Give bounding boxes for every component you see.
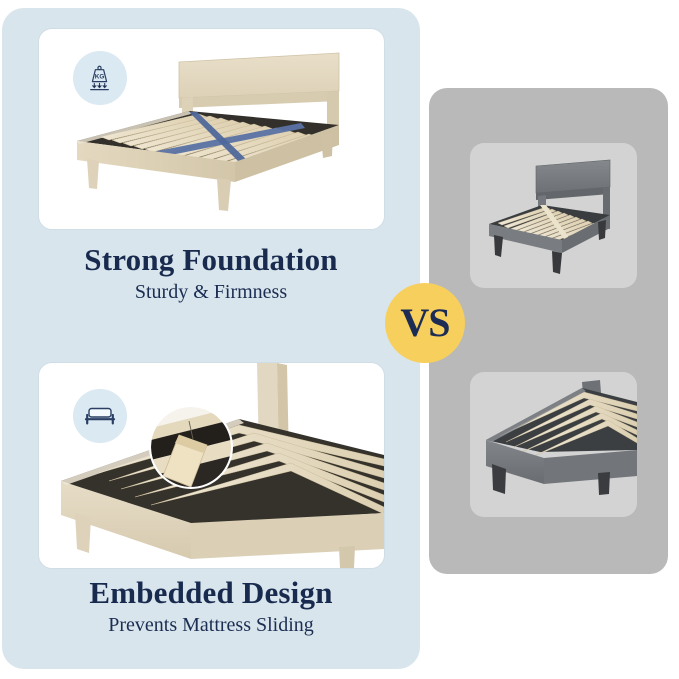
competitor-image-full-bed [470,143,637,288]
caption-embedded-design: Embedded Design Prevents Mattress Slidin… [2,576,420,637]
feature-image-embedded-design [38,362,385,569]
svg-text:KG: KG [95,73,105,80]
vs-label: VS [400,303,449,343]
mattress-base-icon [73,389,127,443]
feature-subtitle: Prevents Mattress Sliding [2,613,420,637]
infographic-stage: KG Strong Foundation Sturdy & Firmness [0,0,679,679]
feature-title: Strong Foundation [2,243,420,277]
grey-bed-corner-illustration [470,372,637,517]
feature-image-strong-foundation: KG [38,28,385,230]
grey-bed-illustration [470,143,637,288]
caption-strong-foundation: Strong Foundation Sturdy & Firmness [2,243,420,304]
feature-title: Embedded Design [2,576,420,610]
weight-kg-icon: KG [73,51,127,105]
competitor-image-bed-corner [470,372,637,517]
vs-badge: VS [385,283,465,363]
feature-subtitle: Sturdy & Firmness [2,280,420,304]
